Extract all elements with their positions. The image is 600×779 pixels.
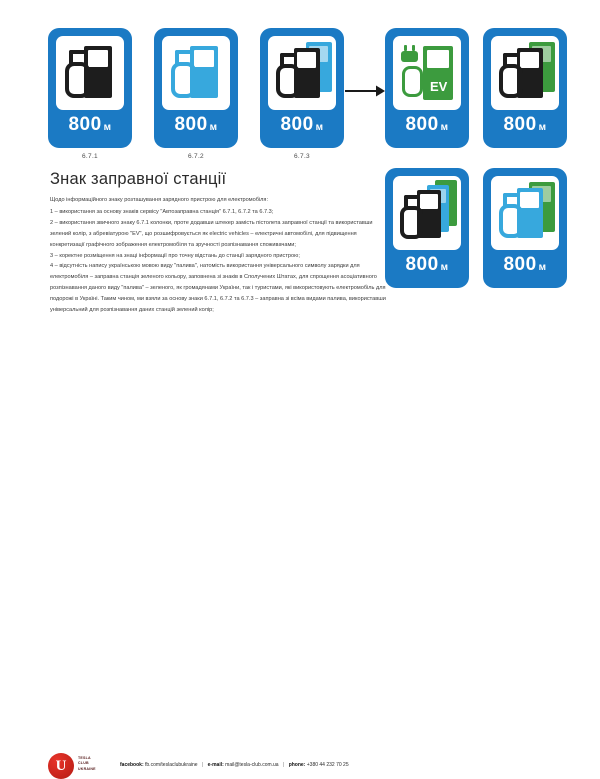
sign-distance: 800 м: [68, 115, 111, 134]
sign-plate: EV: [393, 36, 461, 110]
distance-value: 800: [174, 115, 207, 134]
fuel-pump-blue-icon: [162, 36, 230, 110]
ev-badge: EV: [430, 80, 447, 93]
road-sign[interactable]: 800 м: [483, 168, 567, 288]
distance-unit: м: [441, 263, 449, 273]
sign-plate: [162, 36, 230, 110]
facebook-label: facebook:: [120, 762, 144, 768]
distance-value: 800: [405, 255, 438, 274]
road-sign[interactable]: 800 м: [154, 28, 238, 148]
sign-plate: [491, 176, 559, 250]
facebook-link[interactable]: fb.com/teslaclubukraine: [145, 762, 198, 768]
road-sign[interactable]: 800 м: [385, 168, 469, 288]
contact-bar: facebook: fb.com/teslaclubukraine | e-ma…: [120, 762, 349, 768]
sign-distance: 800 м: [503, 255, 546, 274]
article-lead: Щодо інформаційного знаку розташування з…: [50, 195, 390, 206]
separator: |: [283, 762, 284, 768]
logo-wordmark: TESLA CLUB UKRAINE: [78, 756, 96, 772]
road-sign[interactable]: 800 м: [48, 28, 132, 148]
page-title: Знак заправної станції: [50, 170, 226, 189]
article-item-1: 1 – використання за основу знаків сервіс…: [50, 207, 390, 218]
article-item-2: 2 – використання звичного знаку 6.7.1 ко…: [50, 218, 390, 251]
phone-value[interactable]: +380 44 232 70 25: [307, 762, 349, 768]
sign-group-right-top: EV 800 м: [385, 28, 567, 148]
distance-unit: м: [316, 123, 324, 133]
phone-label: phone:: [289, 762, 306, 768]
fuel-pump-black-green-icon: [491, 36, 559, 110]
sign-item-671[interactable]: 800 м 6.7.1: [48, 28, 132, 160]
fuel-pump-black-icon: [56, 36, 124, 110]
sign-distance: 800 м: [280, 115, 323, 134]
tesla-club-logo-icon[interactable]: U: [48, 753, 74, 779]
sign-code: 6.7.2: [188, 153, 204, 160]
distance-value: 800: [503, 115, 536, 134]
road-sign[interactable]: 800 м: [483, 28, 567, 148]
article-item-3: 3 – коректне розміщення на знаці інформа…: [50, 251, 390, 262]
email-link[interactable]: mail@tesla-club.com.ua: [225, 762, 278, 768]
sign-plate: [268, 36, 336, 110]
logo-line-3: UKRAINE: [78, 767, 96, 772]
sign-item-ev-green[interactable]: EV 800 м: [385, 28, 469, 148]
road-sign[interactable]: 800 м: [260, 28, 344, 148]
footer: U TESLA CLUB UKRAINE facebook: fb.com/te…: [0, 372, 600, 414]
article-body: Щодо інформаційного знаку розташування з…: [50, 195, 390, 316]
separator: |: [202, 762, 203, 768]
sign-code: 6.7.1: [82, 153, 98, 160]
sign-item-673[interactable]: 800 м 6.7.3: [260, 28, 344, 160]
distance-value: 800: [503, 255, 536, 274]
sign-item-672[interactable]: 800 м 6.7.2: [154, 28, 238, 160]
sign-plate: [393, 176, 461, 250]
article-item-4: 4 – відсутність напису українською мовою…: [50, 261, 390, 316]
distance-value: 800: [280, 115, 313, 134]
infographic-page: 800 м 6.7.1 800: [0, 0, 600, 425]
distance-value: 800: [405, 115, 438, 134]
sign-distance: 800 м: [405, 255, 448, 274]
sign-distance: 800 м: [405, 115, 448, 134]
ev-charger-green-icon: EV: [393, 36, 461, 110]
sign-plate: [491, 36, 559, 110]
distance-unit: м: [539, 123, 547, 133]
distance-value: 800: [68, 115, 101, 134]
fuel-pump-black-blue-green-icon: [393, 176, 461, 250]
sign-code: 6.7.3: [294, 153, 310, 160]
sign-item-black-green[interactable]: 800 м: [483, 28, 567, 148]
sign-item-black-blue-green[interactable]: 800 м: [385, 168, 469, 288]
sign-item-blue-green[interactable]: 800 м: [483, 168, 567, 288]
sign-group-left: 800 м 6.7.1 800: [48, 28, 344, 160]
fuel-pump-black-blue-icon: [268, 36, 336, 110]
email-label: e-mail:: [208, 762, 224, 768]
fuel-pump-blue-green-icon: [491, 176, 559, 250]
sign-group-right-bottom: 800 м: [385, 168, 567, 288]
arrow-right-icon: [345, 84, 385, 98]
distance-unit: м: [210, 123, 218, 133]
road-sign[interactable]: EV 800 м: [385, 28, 469, 148]
sign-plate: [56, 36, 124, 110]
distance-unit: м: [104, 123, 112, 133]
distance-unit: м: [539, 263, 547, 273]
sign-distance: 800 м: [503, 115, 546, 134]
sign-distance: 800 м: [174, 115, 217, 134]
distance-unit: м: [441, 123, 449, 133]
logo-letter: U: [56, 759, 67, 774]
